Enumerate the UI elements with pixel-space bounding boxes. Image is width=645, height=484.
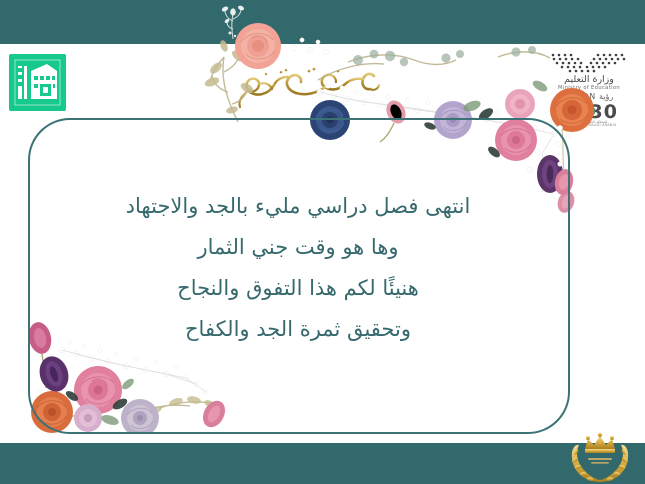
crown-laurel-emblem (563, 432, 637, 484)
rose-greylilac (121, 399, 159, 434)
ministry-of-education-logo: وزارة التعليم Ministry of Education VISI… (541, 52, 637, 126)
tulip-purple-bl (35, 353, 73, 396)
message-line-2: وها هو وقت جني الثمار (48, 227, 548, 268)
school-building-icon (9, 54, 66, 111)
vision-2030-wordmark: 2 30 (541, 100, 637, 121)
crown-icon (585, 433, 615, 453)
top-banner-bar (0, 0, 645, 44)
moe-dot-pattern-icon (541, 52, 637, 74)
arabic-calligraphy (232, 58, 382, 110)
rose-bud-trailing (555, 189, 577, 215)
vision-label-ar: رؤية (599, 92, 613, 101)
school-building-logo (9, 54, 66, 111)
emblem-inner-text (588, 458, 612, 464)
rose-bud-pink (380, 97, 409, 142)
message-line-4: وتحقيق ثمرة الجد والكفاح (48, 309, 548, 350)
congratulation-message: انتهى فصل دراسي مليء بالجد والاجتهاد وها… (48, 186, 548, 350)
rose-bud-pink-right (199, 397, 230, 431)
rose-lilac-small (74, 404, 102, 432)
rose-pink (495, 119, 537, 161)
kingdom-line-english: KINGDOM OF SAUDI ARABIA (541, 124, 637, 128)
vision-label-en: VISION (565, 92, 596, 101)
rose-lightpink (505, 89, 535, 119)
bottom-banner-bar (0, 443, 645, 484)
rose-pink-small (552, 167, 575, 196)
ministry-name-arabic: وزارة التعليم (541, 75, 637, 85)
rose-orange-bl (31, 391, 73, 433)
ministry-name-english: Ministry of Education (541, 86, 637, 91)
congratulation-slide: وزارة التعليم Ministry of Education VISI… (0, 0, 645, 484)
message-line-3: هنيئًا لكم هذا التفوق والنجاح (48, 268, 548, 309)
rose-pink-bl (74, 366, 122, 414)
rose-lavender (434, 101, 472, 139)
floral-arrangement-right (546, 120, 586, 215)
message-line-1: انتهى فصل دراسي مليء بالجد والاجتهاد (48, 186, 548, 227)
